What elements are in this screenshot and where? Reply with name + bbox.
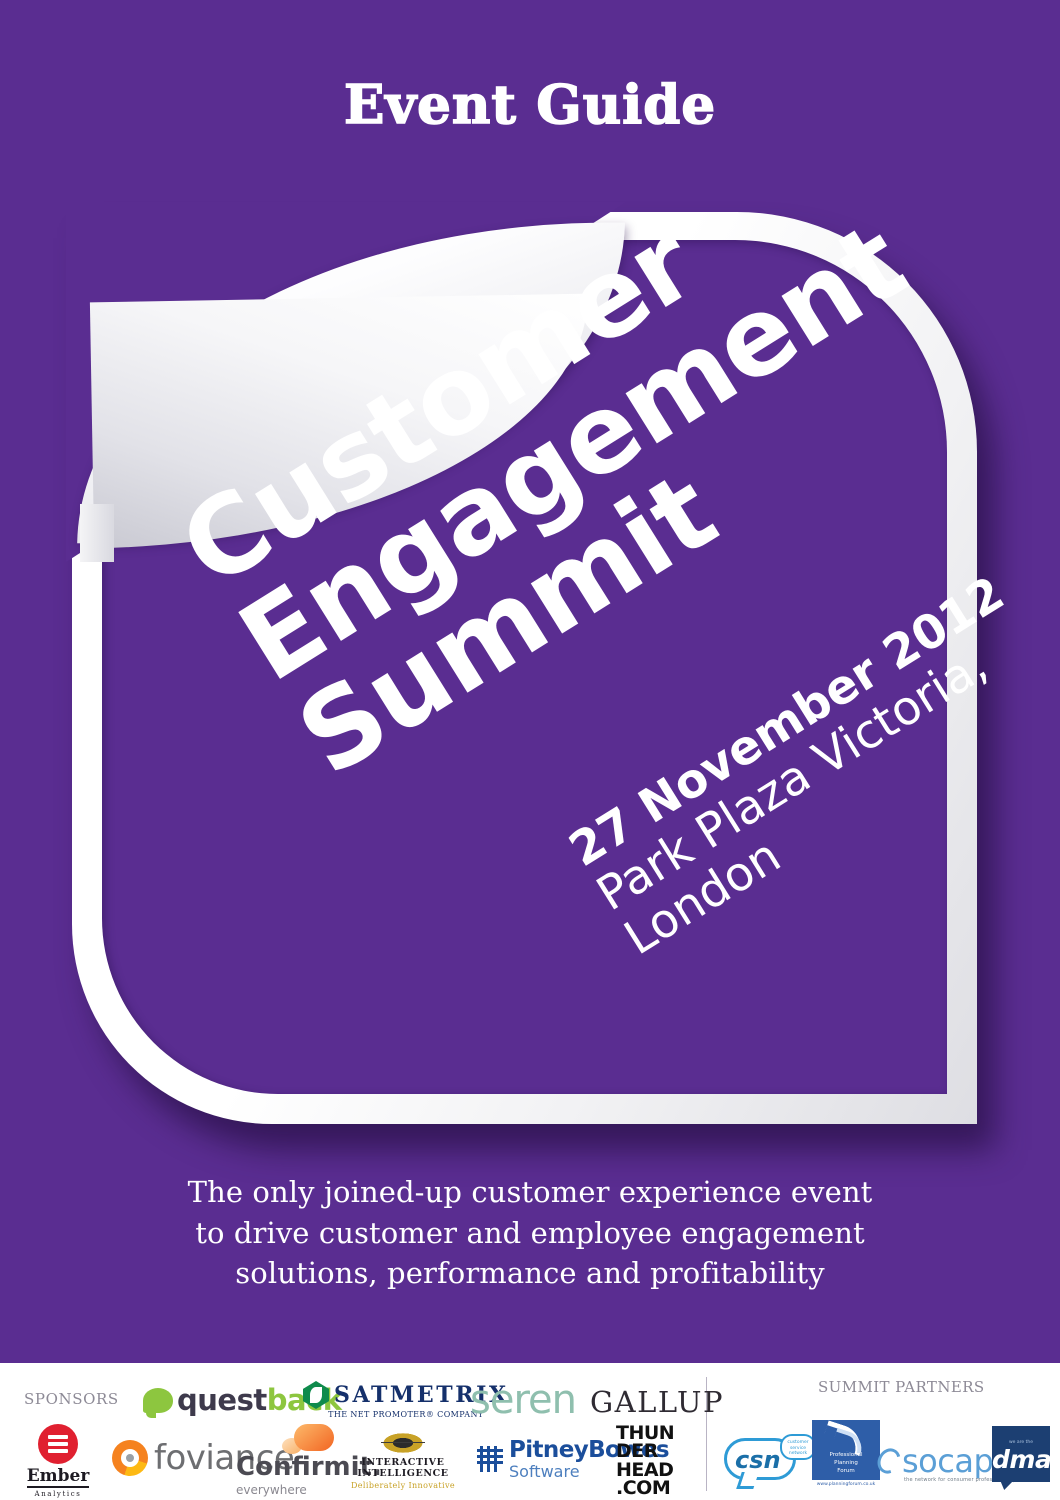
bowtie-icon — [381, 1432, 425, 1454]
dma-wordmark: dma — [992, 1445, 1050, 1474]
logo-gallup[interactable]: GALLUP — [590, 1385, 724, 1419]
event-tagline: The only joined-up customer experience e… — [0, 1172, 1060, 1294]
logo-csn[interactable]: csn customer service network — [724, 1434, 820, 1486]
csn-bubble-text: customer service network — [784, 1440, 812, 1453]
ppf-url: www.planningforum.co.uk — [812, 1482, 880, 1487]
swoosh-secondary-icon — [832, 1428, 866, 1454]
interactive-intelligence-tagline: Deliberately Innovative — [343, 1481, 463, 1490]
ppf-line-1: Professional — [812, 1452, 880, 1460]
thunderhead-line-4: .COM — [616, 1479, 674, 1497]
ember-circle-icon — [38, 1424, 78, 1464]
tagline-line-1: The only joined-up customer experience e… — [0, 1172, 1060, 1213]
dma-badge: we are the dma — [992, 1426, 1050, 1482]
logo-ember-analytics[interactable]: Ember Analytics — [26, 1424, 90, 1498]
interactive-intelligence-wordmark: INTERACTIVE INTELLIGENCE — [343, 1457, 463, 1479]
questback-word-1: quest — [177, 1383, 267, 1417]
csn-wordmark: csn — [735, 1446, 781, 1474]
logo-dma[interactable]: we are the dma — [992, 1426, 1050, 1482]
pitney-grid-icon — [477, 1446, 503, 1472]
ember-wordmark: Ember — [27, 1466, 90, 1488]
sponsors-label: SPONSORS — [24, 1390, 119, 1408]
logo-professional-planning-forum[interactable]: Professional Planning Forum www.planning… — [812, 1420, 880, 1487]
page-title: Event Guide — [0, 74, 1060, 136]
diamond-icon — [303, 1381, 329, 1409]
tagline-line-2: to drive customer and employee engagemen… — [0, 1213, 1060, 1254]
ppf-badge: Professional Planning Forum — [812, 1420, 880, 1480]
tagline-line-3: solutions, performance and profitability — [0, 1253, 1060, 1294]
swirl-icon — [112, 1440, 148, 1476]
confirmit-blob-icon — [294, 1424, 334, 1451]
speech-bubble-icon — [143, 1388, 173, 1413]
ember-tagline: Analytics — [26, 1490, 90, 1498]
logo-interactive-intelligence[interactable]: INTERACTIVE INTELLIGENCE Deliberately In… — [343, 1432, 463, 1490]
logo-thunderhead[interactable]: THUN DER HEAD .COM — [616, 1424, 674, 1498]
ppf-line-2: Planning — [812, 1460, 880, 1468]
ppf-line-3: Forum — [812, 1468, 880, 1476]
logo-seren[interactable]: seren — [470, 1377, 576, 1423]
event-sticker: Customer Engagement Summit 27 November 2… — [72, 212, 997, 1152]
socap-wordmark: socap — [902, 1442, 993, 1480]
peel-corner-edge — [80, 504, 114, 562]
socap-swirl-icon — [873, 1444, 905, 1477]
summit-partners-label: SUMMIT PARTNERS — [818, 1378, 985, 1396]
